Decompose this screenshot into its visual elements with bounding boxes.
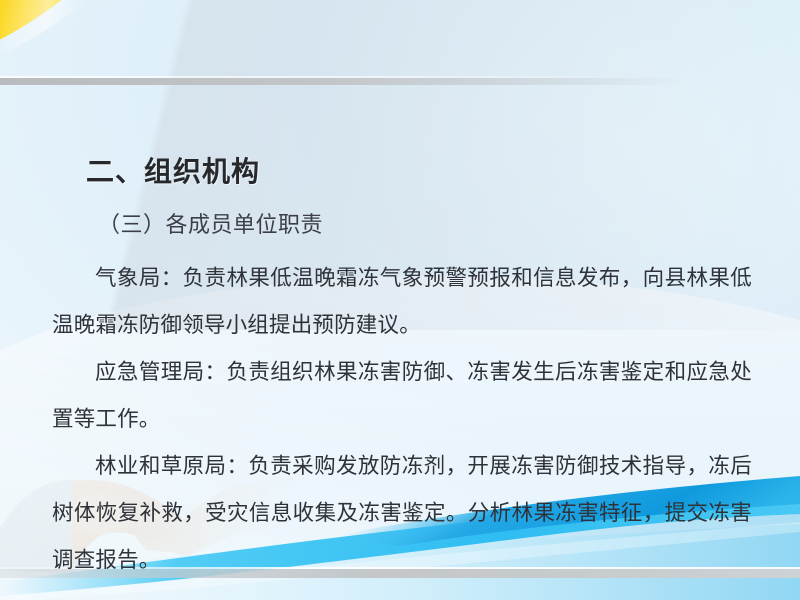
slide-canvas: 二、组织机构 （三）各成员单位职责 气象局：负责林果低温晚霜冻气象预警预报和信息… bbox=[0, 0, 800, 600]
paragraph-meteorology-bureau: 气象局：负责林果低温晚霜冻气象预警预报和信息发布，向县林果低温晚霜冻防御领导小组… bbox=[52, 255, 752, 349]
body-text-block: 气象局：负责林果低温晚霜冻气象预警预报和信息发布，向县林果低温晚霜冻防御领导小组… bbox=[52, 255, 752, 584]
slide-content: 二、组织机构 （三）各成员单位职责 气象局：负责林果低温晚霜冻气象预警预报和信息… bbox=[0, 0, 800, 600]
page-title: 二、组织机构 bbox=[86, 150, 260, 190]
paragraph-emergency-management-bureau: 应急管理局：负责组织林果冻害防御、冻害发生后冻害鉴定和应急处置等工作。 bbox=[52, 349, 752, 443]
paragraph-forestry-grassland-bureau: 林业和草原局：负责采购发放防冻剂，开展冻害防御技术指导，冻后树体恢复补救，受灾信… bbox=[52, 443, 752, 584]
section-subtitle: （三）各成员单位职责 bbox=[98, 207, 323, 239]
